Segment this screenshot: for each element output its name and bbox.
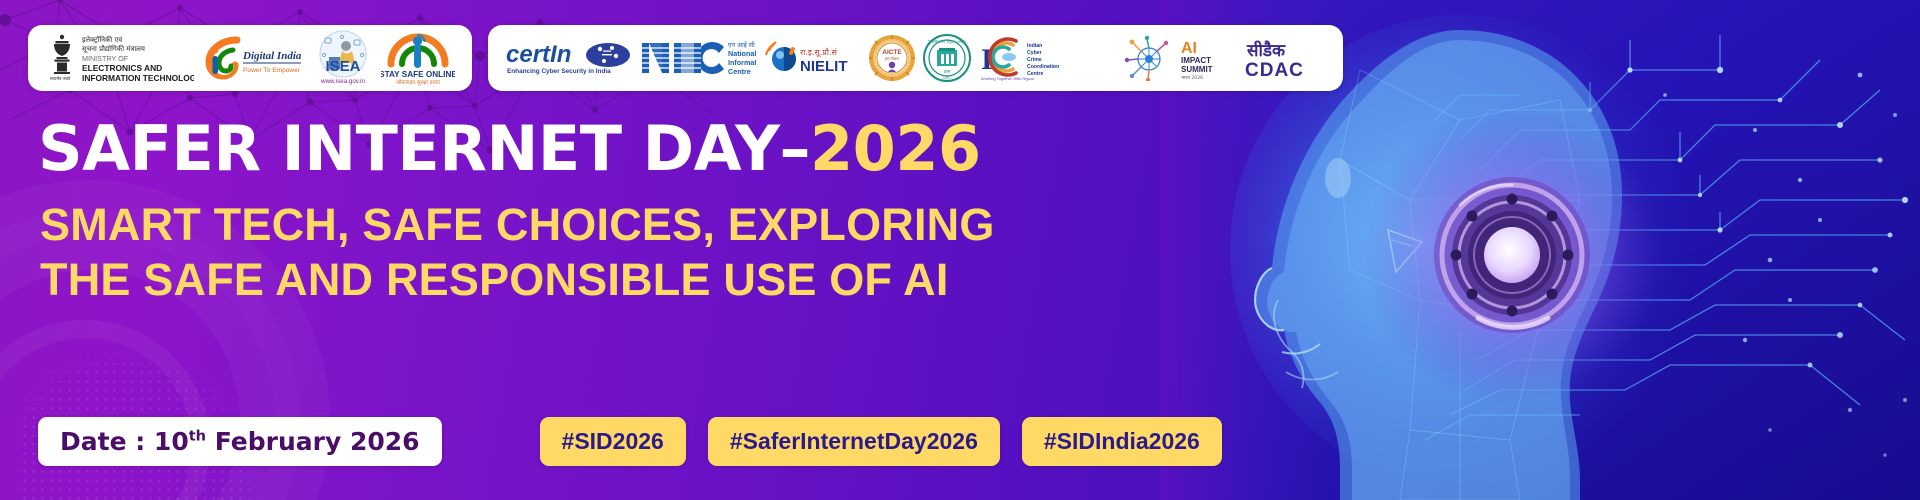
stay-safe-online-logo: STAY SAFE ONLINE ऑनलाइन सुरक्षा बनाए [381, 31, 455, 85]
page-title: SAFER INTERNET DAY–2026 [38, 118, 981, 180]
nic-line2: Informatics [728, 58, 756, 67]
hashtag-group: #SID2026 #SaferInternetDay2026 #SIDIndia… [540, 417, 1222, 466]
isea-logo: ISEA www.isea.gov.in [312, 31, 374, 85]
hashtag-saferinternetday2026[interactable]: #SaferInternetDay2026 [708, 417, 1000, 466]
isea-url: www.isea.gov.in [320, 78, 365, 85]
ai-impact-summit-hindi: भारत 2026 [1181, 75, 1203, 81]
ai-impact-summit-logo: AI IMPACT SUMMIT भारत 2026 [1123, 31, 1235, 85]
svg-text:AI: AI [1181, 40, 1197, 57]
headline-main: SAFER INTERNET DAY [38, 112, 780, 185]
stay-safe-online-hindi: ऑनलाइन सुरक्षा बनाए [395, 79, 440, 86]
subtitle: SMART TECH, SAFE CHOICES, EXPLORING THE … [40, 198, 995, 308]
date-ordinal: th [189, 429, 206, 445]
event-date-badge: Date : 10th February 2026 [38, 417, 442, 466]
cdac-name: CDAC [1245, 60, 1304, 81]
meity-en-1: MINISTRY OF [82, 54, 129, 63]
cert-in-logo: certIn Enhancing Cyber Security in India [504, 31, 632, 85]
nic-logo: एन आई सी National Informatics Centre [640, 31, 756, 85]
meity-en-3: INFORMATION TECHNOLOGY [82, 73, 194, 83]
nielit-name: NIELIT [800, 58, 848, 75]
partner-logos: सत्यमेव जयते इलेक्ट्रॉनिकी एवं सूचना प्र… [28, 25, 1343, 91]
i4c-line1: Indian [1027, 43, 1042, 49]
svg-text:सत्यमेव जयते: सत्यमेव जयते [50, 76, 71, 81]
meity-hindi-1: इलेक्ट्रॉनिकी एवं [82, 35, 122, 44]
nielit-hindi: रा.इ.सू.प्रौ.सं [800, 47, 837, 58]
aicte-name: AICTE [882, 49, 902, 56]
headline-year: 2026 [810, 112, 981, 185]
subtitle-line-2: THE SAFE AND RESPONSIBLE USE OF AI [40, 253, 995, 308]
date-rest: February 2026 [206, 427, 420, 456]
i4c-line3: Crime [1027, 57, 1042, 63]
svg-text:विश्वविद्यालय अनुदान आयोग: विश्वविद्यालय अनुदान आयोग [929, 39, 968, 44]
i4c-tagline: Working Together With Rigour [981, 76, 1035, 81]
i4c-logo: I Indian Cyber Crime Coordination Centre… [979, 31, 1115, 85]
nic-hindi: एन आई सी [728, 41, 755, 49]
hashtag-sidindia2026[interactable]: #SIDIndia2026 [1022, 417, 1222, 466]
cdac-hindi: सीडैक [1246, 40, 1286, 61]
date-label: Date : 10 [60, 427, 189, 456]
ugc-name: UGC [944, 76, 952, 80]
cdac-logo: सीडैक CDAC [1243, 31, 1327, 85]
svg-text:certIn: certIn [506, 41, 571, 68]
stay-safe-online-name: STAY SAFE ONLINE [381, 70, 455, 79]
nic-line3: Centre [728, 67, 751, 76]
i4c-line2: Cyber [1027, 50, 1042, 56]
meity-en-2: ELECTRONICS AND [82, 63, 162, 73]
digital-india-logo: Digital India Power To Empower [201, 31, 305, 85]
svg-text:IMPACT: IMPACT [1181, 56, 1211, 65]
cert-in-tagline: Enhancing Cyber Security in India [507, 68, 611, 75]
digital-india-tagline: Power To Empower [243, 67, 301, 74]
digital-india-name: Digital India [242, 50, 302, 62]
nic-line1: National [728, 49, 756, 58]
ring-decoration-small [0, 320, 210, 500]
logo-card-primary: सत्यमेव जयते इलेक्ट्रॉनिकी एवं सूचना प्र… [28, 25, 472, 91]
nielit-logo: रा.इ.सू.प्रौ.सं NIELIT [764, 31, 860, 85]
safer-internet-day-banner: सत्यमेव जयते इलेक्ट्रॉनिकी एवं सूचना प्र… [0, 0, 1920, 500]
meity-hindi-2: सूचना प्रौद्योगिकी मंत्रालय [82, 44, 146, 53]
badge-row: Date : 10th February 2026 #SID2026 #Safe… [38, 417, 1222, 466]
svg-text:SUMMIT: SUMMIT [1181, 65, 1213, 74]
i4c-line4: Coordination [1027, 64, 1059, 70]
ugc-logo: ज्ञान विश्वविद्यालय अनुदान आयोग UGC [923, 31, 971, 85]
svg-text:ज्ञान: ज्ञान [944, 70, 951, 75]
svg-text:ज्ञान विज्ञान: ज्ञान विज्ञान [884, 56, 900, 61]
logo-card-secondary: certIn Enhancing Cyber Security in India [488, 25, 1343, 91]
aicte-logo: AICTE ज्ञान विज्ञान [868, 31, 916, 85]
subtitle-line-1: SMART TECH, SAFE CHOICES, EXPLORING [40, 198, 995, 253]
hashtag-sid2026[interactable]: #SID2026 [540, 417, 686, 466]
meity-logo: सत्यमेव जयते इलेक्ट्रॉनिकी एवं सूचना प्र… [46, 31, 194, 85]
isea-name: ISEA [325, 58, 360, 75]
headline-dash: – [780, 112, 811, 185]
